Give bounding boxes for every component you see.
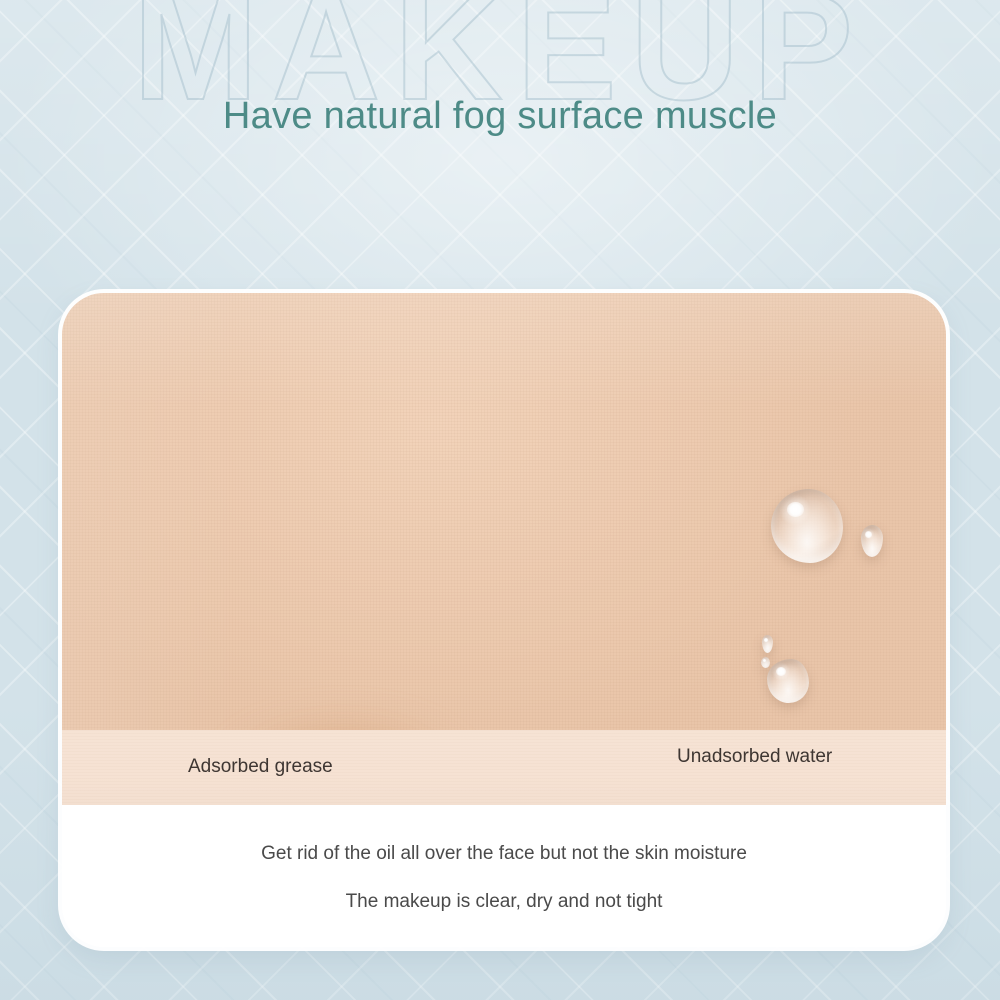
caption-unadsorbed-water: Unadsorbed water: [677, 746, 832, 768]
footer-text-line-2: The makeup is clear, dry and not tight: [62, 891, 946, 913]
product-feature-page: MAKEUP Have natural fog surface muscle: [0, 0, 1000, 1000]
caption-adsorbed-grease: Adsorbed grease: [188, 756, 333, 778]
card-footer: Get rid of the oil all over the face but…: [62, 805, 946, 947]
product-demo-card: Adsorbed grease Unadsorbed water Get rid…: [62, 293, 946, 947]
skin-surface-photo: [62, 293, 946, 730]
page-title: Have natural fog surface muscle: [0, 95, 1000, 138]
footer-text-line-1: Get rid of the oil all over the face but…: [62, 843, 946, 865]
skin-shading-overlay: [62, 293, 946, 730]
caption-band: Adsorbed grease Unadsorbed water: [62, 730, 946, 805]
